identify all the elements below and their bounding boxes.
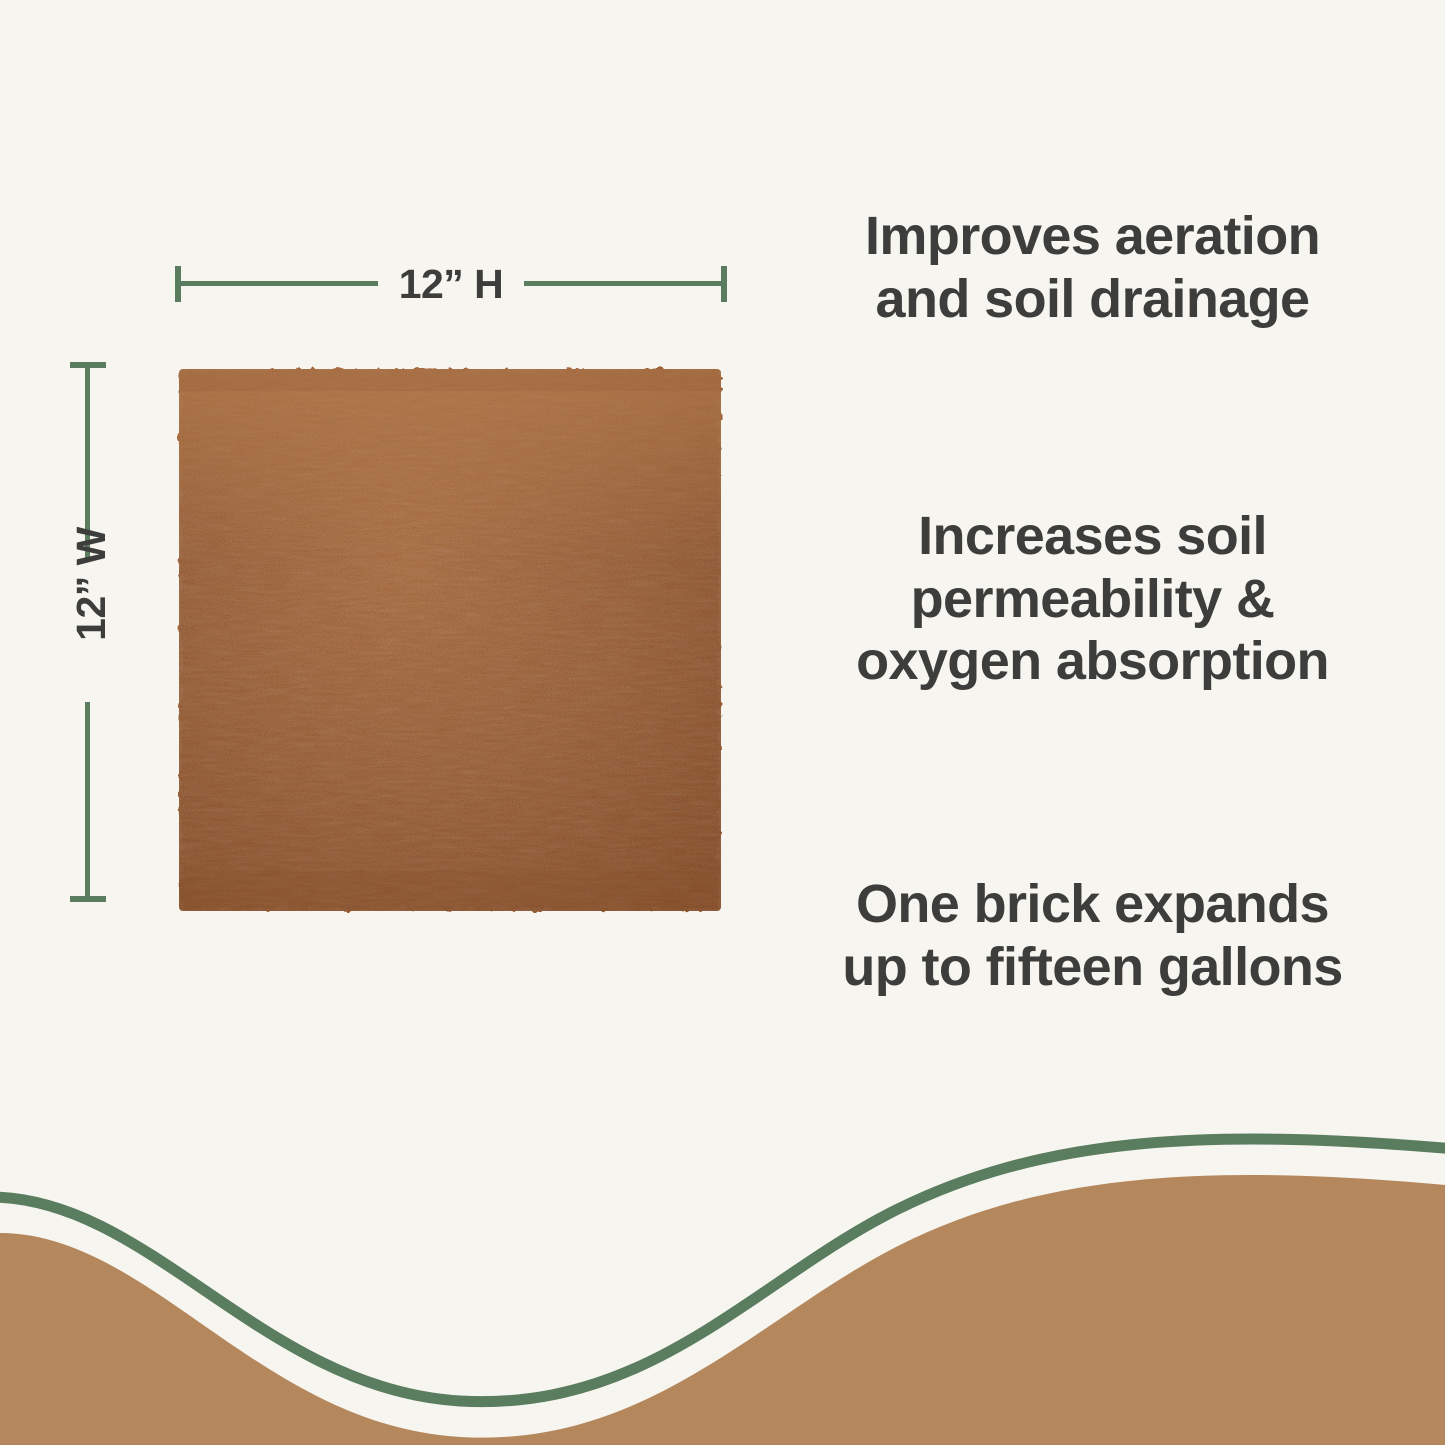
benefit-item-expansion-volume: One brick expands up to fifteen gallons	[770, 873, 1415, 998]
benefit-line: Improves aeration	[770, 205, 1415, 268]
dimension-label-width: 12” W	[63, 509, 119, 659]
benefit-item-aeration-drainage: Improves aeration and soil drainage	[770, 205, 1415, 330]
benefit-line: permeability &	[770, 568, 1415, 631]
dimension-label-height: 12” H	[376, 256, 526, 312]
benefit-line: One brick expands	[770, 873, 1415, 936]
benefit-item-permeability-oxygen: Increases soil permeability & oxygen abs…	[770, 505, 1415, 693]
coco-coir-brick-image	[175, 365, 725, 915]
decorative-wave-footer	[0, 1125, 1445, 1445]
benefit-line: Increases soil	[770, 505, 1415, 568]
benefit-line: and soil drainage	[770, 268, 1415, 331]
benefits-list: Improves aeration and soil drainage Incr…	[770, 0, 1415, 1050]
infographic-page: 12” H 12” W	[0, 0, 1445, 1445]
benefit-line: up to fifteen gallons	[770, 936, 1415, 999]
product-image-area: 12” H 12” W	[0, 0, 780, 1050]
benefit-line: oxygen absorption	[770, 630, 1415, 693]
